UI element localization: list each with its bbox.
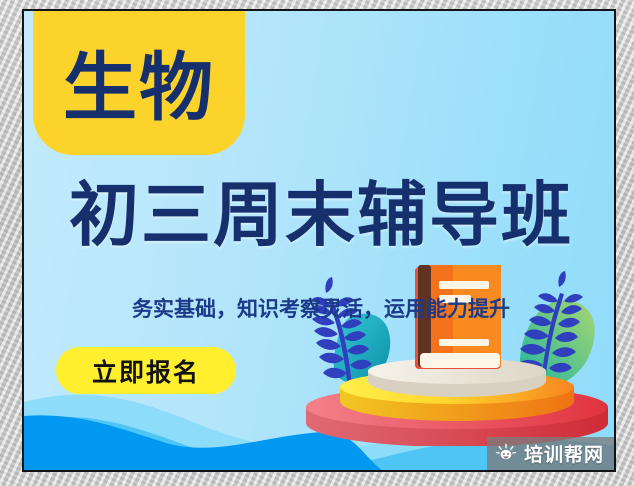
watermark: 培训帮网 <box>487 437 614 470</box>
sun-face-icon <box>495 443 517 465</box>
enroll-now-button[interactable]: 立即报名 <box>56 347 236 394</box>
image-frame: 生物 初三周末辅导班 务实基础，知识考察灵活，运用能力提升 立即报名 <box>0 0 634 486</box>
watermark-label: 培训帮网 <box>524 440 604 467</box>
subject-badge: 生物 <box>33 9 245 155</box>
enroll-now-button-label: 立即报名 <box>92 353 200 389</box>
poster-headline: 初三周末辅导班 <box>24 179 616 252</box>
subject-badge-label: 生物 <box>63 37 215 125</box>
book-podium-illustration <box>292 261 616 446</box>
poster-subheadline: 务实基础，知识考察灵活，运用能力提升 <box>24 293 616 323</box>
promotional-poster: 生物 初三周末辅导班 务实基础，知识考察灵活，运用能力提升 立即报名 <box>22 9 616 472</box>
